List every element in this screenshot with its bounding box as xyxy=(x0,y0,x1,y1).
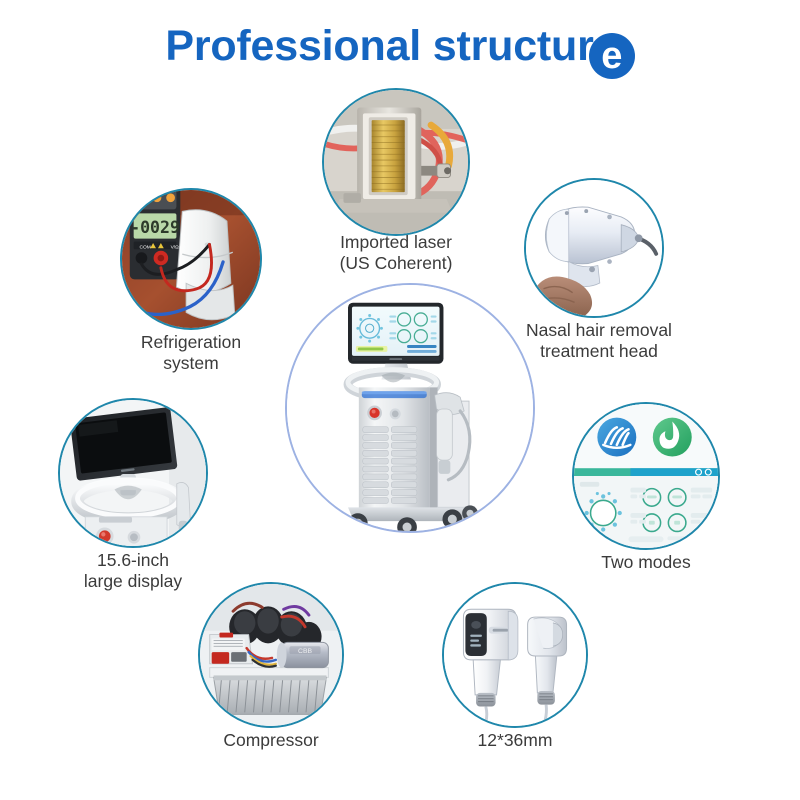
mode-icons-and-control-panel-photo xyxy=(574,404,718,548)
refrigeration-system-caption: Refrigeration system xyxy=(110,332,272,375)
tilted-touchscreen-monitor-photo xyxy=(60,400,206,546)
diode-laser-machine-illustration xyxy=(287,285,533,531)
infographic-canvas: Professional structure xyxy=(0,0,800,800)
two-modes-bubble xyxy=(572,402,720,550)
refrigeration-system-bubble: -0029 COM V/Ω xyxy=(120,188,262,330)
large-display-bubble xyxy=(58,398,208,548)
nasal-hair-removal-bubble xyxy=(524,178,664,318)
handheld-treatment-head-photo xyxy=(526,180,662,316)
spot-size-bubble xyxy=(442,582,588,728)
two-handpieces-photo xyxy=(444,584,586,726)
spot-size-caption: 12*36mm xyxy=(436,730,594,751)
compressor-fans-and-radiator-photo: CBB xyxy=(200,584,342,726)
large-display-caption: 15.6-inch large display xyxy=(48,550,218,593)
center-machine-bubble xyxy=(285,283,535,533)
laser-bar-module-photo xyxy=(324,90,468,234)
two-modes-caption: Two modes xyxy=(566,552,726,573)
page-title-text: Professional structur xyxy=(165,22,593,70)
compressor-bubble: CBB xyxy=(198,582,344,728)
svg-text:-0029: -0029 xyxy=(130,218,180,237)
svg-text:CBB: CBB xyxy=(298,648,312,655)
title-badge-letter-e: e xyxy=(589,33,635,79)
center-machine-photo xyxy=(287,285,533,531)
svg-text:V/Ω: V/Ω xyxy=(171,244,180,250)
multimeter-testing-cooling-unit-photo: -0029 COM V/Ω xyxy=(122,190,260,328)
svg-text:COM: COM xyxy=(139,244,150,250)
nasal-hair-removal-caption: Nasal hair removal treatment head xyxy=(511,320,687,363)
compressor-caption: Compressor xyxy=(190,730,352,751)
imported-laser-bubble xyxy=(322,88,470,236)
page-title: Professional structure xyxy=(0,22,800,79)
imported-laser-caption: Imported laser (US Coherent) xyxy=(306,232,486,275)
